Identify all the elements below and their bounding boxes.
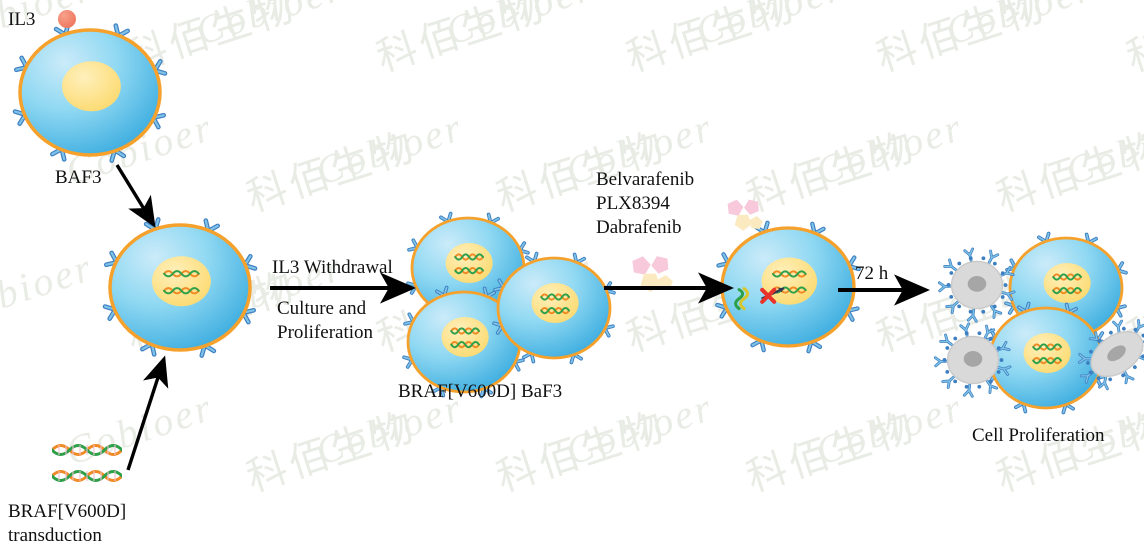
arrow-transduction-down [117,165,152,222]
label-72h: 72 h [855,262,888,286]
label-il3: IL3 [8,8,35,32]
label-braf-transduction: BRAF[V600D] transduction [8,500,126,548]
arrow-layer [0,0,1144,552]
label-cell-proliferation: Cell Proliferation [972,424,1104,448]
diagram-canvas: Cobioer科佰生物Cobioer科佰生物Cobioer科佰生物Cobioer… [0,0,1144,552]
label-braf-baf3: BRAF[V600D] BaF3 [398,380,562,404]
label-culture-proliferation: Culture and Proliferation [277,297,373,345]
label-il3-withdrawal: IL3 Withdrawal [272,256,393,280]
arrow-transduction-up [128,362,163,470]
label-drug-list: Belvarafenib PLX8394 Dabrafenib [596,168,694,239]
label-baf3: BAF3 [55,166,101,190]
